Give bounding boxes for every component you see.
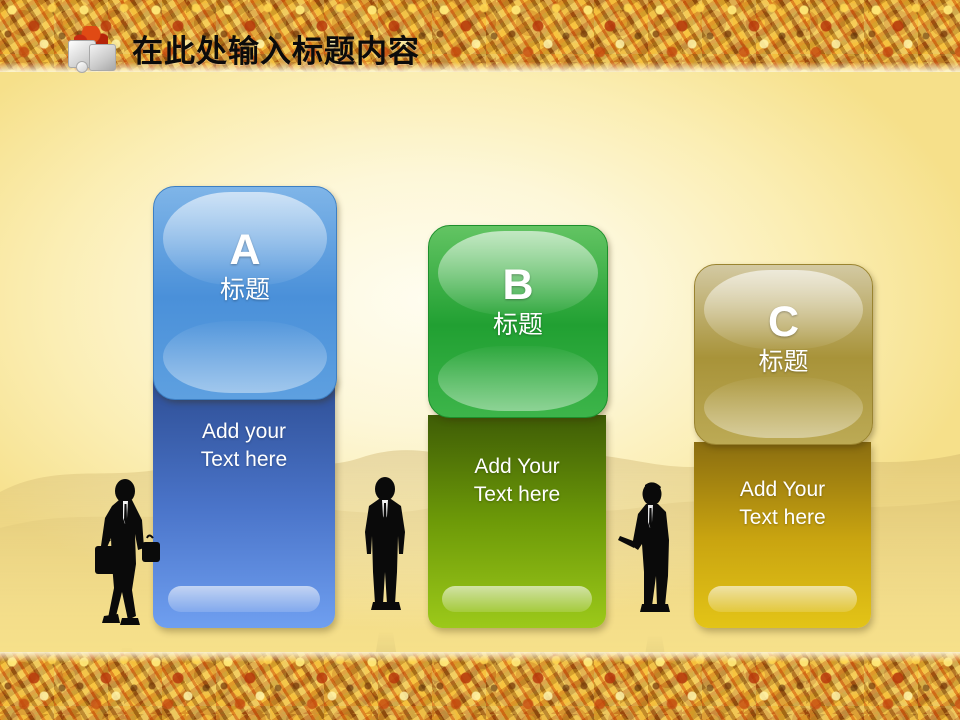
puzzle-piece-right [89, 44, 116, 71]
gloss-highlight-bottom [163, 321, 327, 393]
column-a-body-line2: Text here [201, 448, 287, 471]
column-b-body: Add Your Text here [428, 415, 606, 628]
puzzle-piece-icon [62, 26, 118, 78]
column-b-body-line2: Text here [474, 483, 560, 506]
column-c-body: Add Your Text here [694, 442, 871, 628]
column-c-subtitle: 标题 [695, 349, 872, 374]
column-b[interactable]: Add Your Text here B 标题 [428, 225, 606, 628]
column-c-body-line2: Text here [739, 506, 825, 529]
gloss-highlight-bottom [704, 377, 863, 438]
column-c-body-line1: Add Your [740, 478, 825, 501]
column-b-body-line1: Add Your [474, 455, 559, 478]
column-c-bottom-pill [708, 586, 857, 612]
column-b-subtitle: 标题 [429, 312, 607, 337]
column-c[interactable]: Add Your Text here C 标题 [694, 264, 871, 628]
column-b-bottom-pill [442, 586, 592, 612]
businessman-reading-document [618, 480, 682, 668]
column-a-bottom-pill [168, 586, 321, 612]
column-c-letter: C [695, 301, 872, 344]
page-title: 在此处输入标题内容 [132, 37, 420, 68]
column-c-body-text: Add Your Text here [694, 476, 871, 532]
title-row: 在此处输入标题内容 [62, 26, 420, 78]
column-a-header[interactable]: A 标题 [153, 186, 337, 400]
column-b-letter: B [429, 264, 607, 307]
businessman-standing [353, 476, 417, 664]
column-b-body-text: Add Your Text here [428, 453, 606, 509]
column-b-header[interactable]: B 标题 [428, 225, 608, 418]
ornament-border-bottom [0, 652, 960, 720]
slide-canvas: 在此处输入标题内容 Add your Text here A 标题 Add Yo… [0, 0, 960, 720]
column-a-subtitle: 标题 [154, 277, 336, 302]
gloss-highlight-bottom [438, 346, 598, 411]
column-a-letter: A [154, 229, 336, 272]
column-a-body-line1: Add your [202, 420, 286, 443]
puzzle-knob-bottom [76, 61, 88, 73]
column-c-header[interactable]: C 标题 [694, 264, 873, 445]
column-a[interactable]: Add your Text here A 标题 [153, 186, 335, 628]
column-a-body: Add your Text here [153, 376, 335, 628]
column-a-body-text: Add your Text here [153, 418, 335, 474]
